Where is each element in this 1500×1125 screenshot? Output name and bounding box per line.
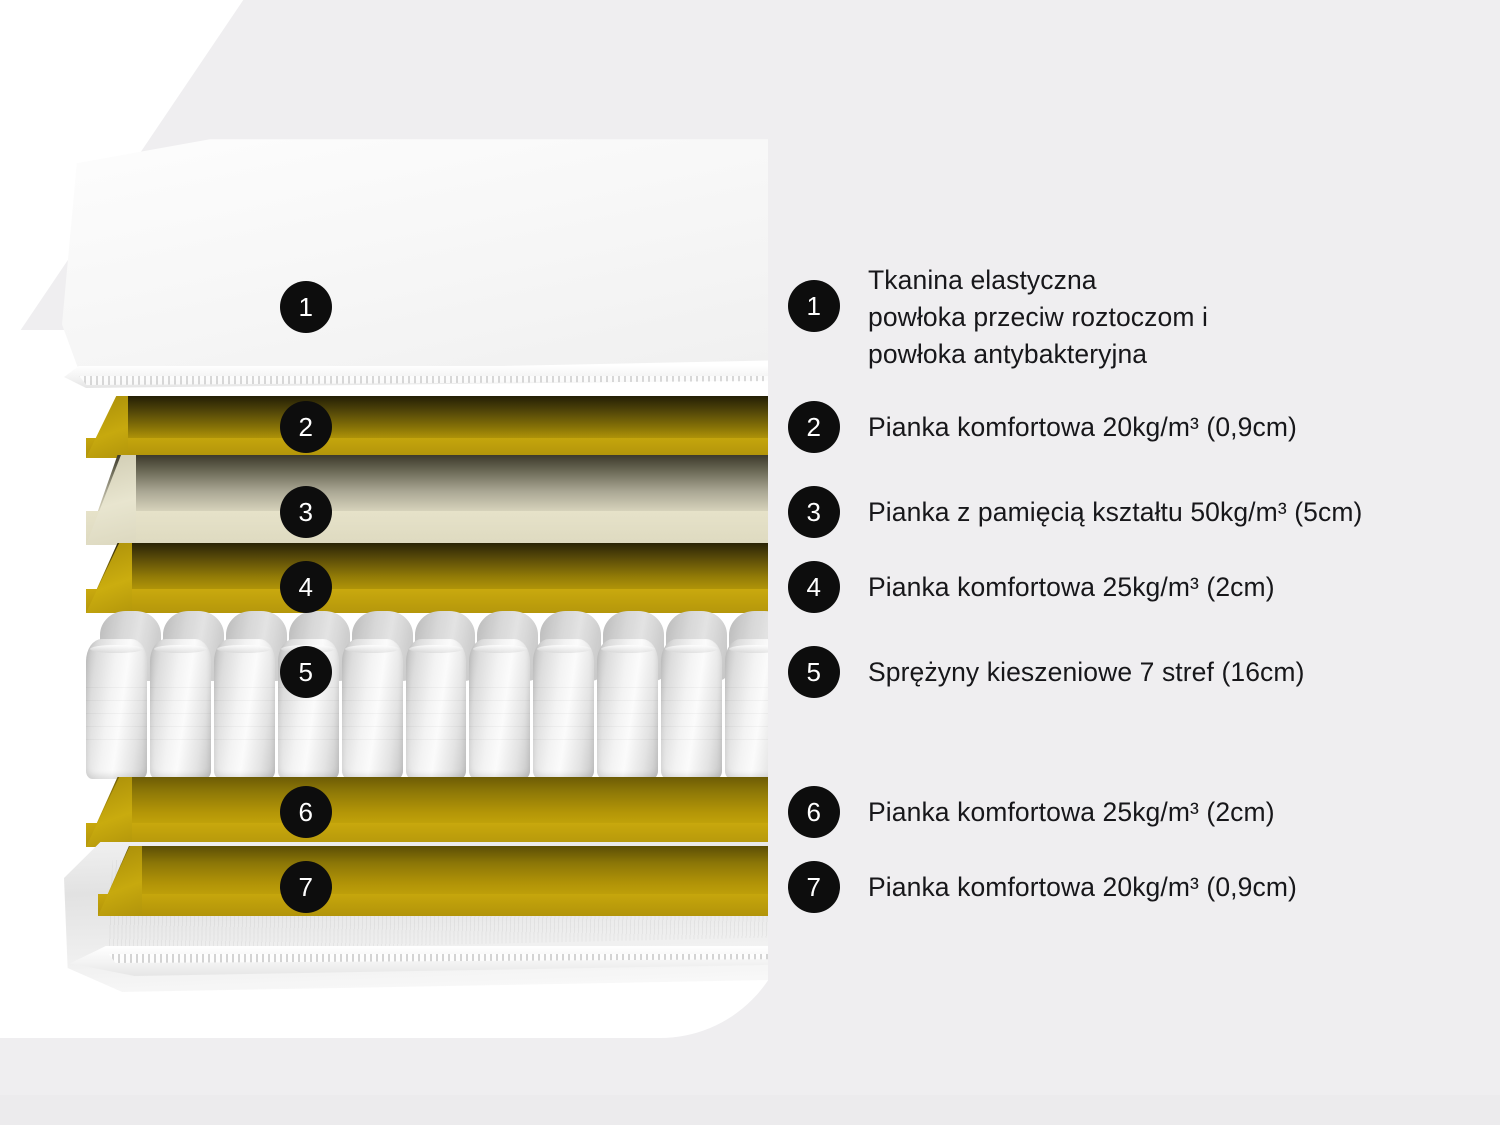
- layer-6-left-bevel: [86, 777, 132, 847]
- image-marker-2[interactable]: 2: [280, 401, 332, 453]
- legend-bullet-2[interactable]: 2: [788, 401, 840, 453]
- legend-bullet-7[interactable]: 7: [788, 861, 840, 913]
- layer-7-front-face: [98, 894, 786, 916]
- legend-bullet-4[interactable]: 4: [788, 561, 840, 613]
- legend-label-6: Pianka komfortowa 25kg/m³ (2cm): [868, 794, 1275, 831]
- spring-pocket: [150, 639, 211, 779]
- spring-pocket: [214, 639, 275, 779]
- legend-row-3[interactable]: 3 Pianka z pamięcią kształtu 50kg/m³ (5c…: [788, 486, 1362, 538]
- bottom-band: [0, 1095, 1500, 1125]
- legend-row-7[interactable]: 7 Pianka komfortowa 20kg/m³ (0,9cm): [788, 861, 1297, 913]
- legend-row-1[interactable]: 1 Tkanina elastyczna powłoka przeciw roz…: [788, 280, 1208, 373]
- legend-label-1: Tkanina elastyczna powłoka przeciw rozto…: [868, 262, 1208, 373]
- legend-bullet-3[interactable]: 3: [788, 486, 840, 538]
- layer-1-cover: [62, 138, 802, 390]
- spring-pocket: [342, 639, 403, 779]
- image-marker-6[interactable]: 6: [280, 786, 332, 838]
- legend-row-4[interactable]: 4 Pianka komfortowa 25kg/m³ (2cm): [788, 561, 1275, 613]
- layer-2-comfort-foam: [86, 396, 786, 458]
- spring-pocket: [533, 639, 594, 779]
- legend-bullet-6[interactable]: 6: [788, 786, 840, 838]
- legend-bullet-5[interactable]: 5: [788, 646, 840, 698]
- layer-6-comfort-foam: [86, 777, 786, 847]
- image-marker-3[interactable]: 3: [280, 486, 332, 538]
- layer-3-front-face: [86, 511, 786, 545]
- layer-7-comfort-foam: [98, 846, 786, 916]
- spring-pocket: [661, 639, 722, 779]
- legend-row-2[interactable]: 2 Pianka komfortowa 20kg/m³ (0,9cm): [788, 401, 1297, 453]
- layer-4-left-bevel: [86, 543, 132, 613]
- layer-4-front-face: [86, 589, 786, 613]
- legend-label-3: Pianka z pamięcią kształtu 50kg/m³ (5cm): [868, 494, 1362, 531]
- layer-3-memory-foam: [86, 455, 786, 545]
- legend-label-4: Pianka komfortowa 25kg/m³ (2cm): [868, 569, 1275, 606]
- spring-pocket: [597, 639, 658, 779]
- layer-5-pocket-springs: [86, 611, 786, 779]
- layer-2-left-bevel: [86, 396, 128, 458]
- legend-row-5[interactable]: 5 Sprężyny kieszeniowe 7 stref (16cm): [788, 646, 1305, 698]
- image-marker-7[interactable]: 7: [280, 861, 332, 913]
- mattress-layers-infographic: 1 2 3 4 5 6 7 1 Tkanina elastyczna powło…: [0, 0, 1500, 1125]
- spring-pocket: [86, 639, 147, 779]
- legend-panel: 1 Tkanina elastyczna powłoka przeciw roz…: [788, 0, 1488, 1125]
- legend-label-7: Pianka komfortowa 20kg/m³ (0,9cm): [868, 869, 1297, 906]
- image-marker-1[interactable]: 1: [280, 281, 332, 333]
- spring-front-row: [86, 639, 786, 779]
- mattress-illustration: 1 2 3 4 5 6 7: [0, 0, 790, 1020]
- spring-pocket: [469, 639, 530, 779]
- image-marker-5[interactable]: 5: [280, 646, 332, 698]
- legend-bullet-1[interactable]: 1: [788, 280, 840, 332]
- legend-row-6[interactable]: 6 Pianka komfortowa 25kg/m³ (2cm): [788, 786, 1275, 838]
- layer-7-left-bevel: [98, 846, 142, 916]
- cover-top-face: [62, 138, 802, 390]
- legend-label-5: Sprężyny kieszeniowe 7 stref (16cm): [868, 654, 1305, 691]
- layer-3-left-bevel: [86, 455, 136, 545]
- layer-4-comfort-foam: [86, 543, 786, 613]
- legend-label-2: Pianka komfortowa 20kg/m³ (0,9cm): [868, 409, 1297, 446]
- image-marker-4[interactable]: 4: [280, 561, 332, 613]
- spring-pocket: [406, 639, 467, 779]
